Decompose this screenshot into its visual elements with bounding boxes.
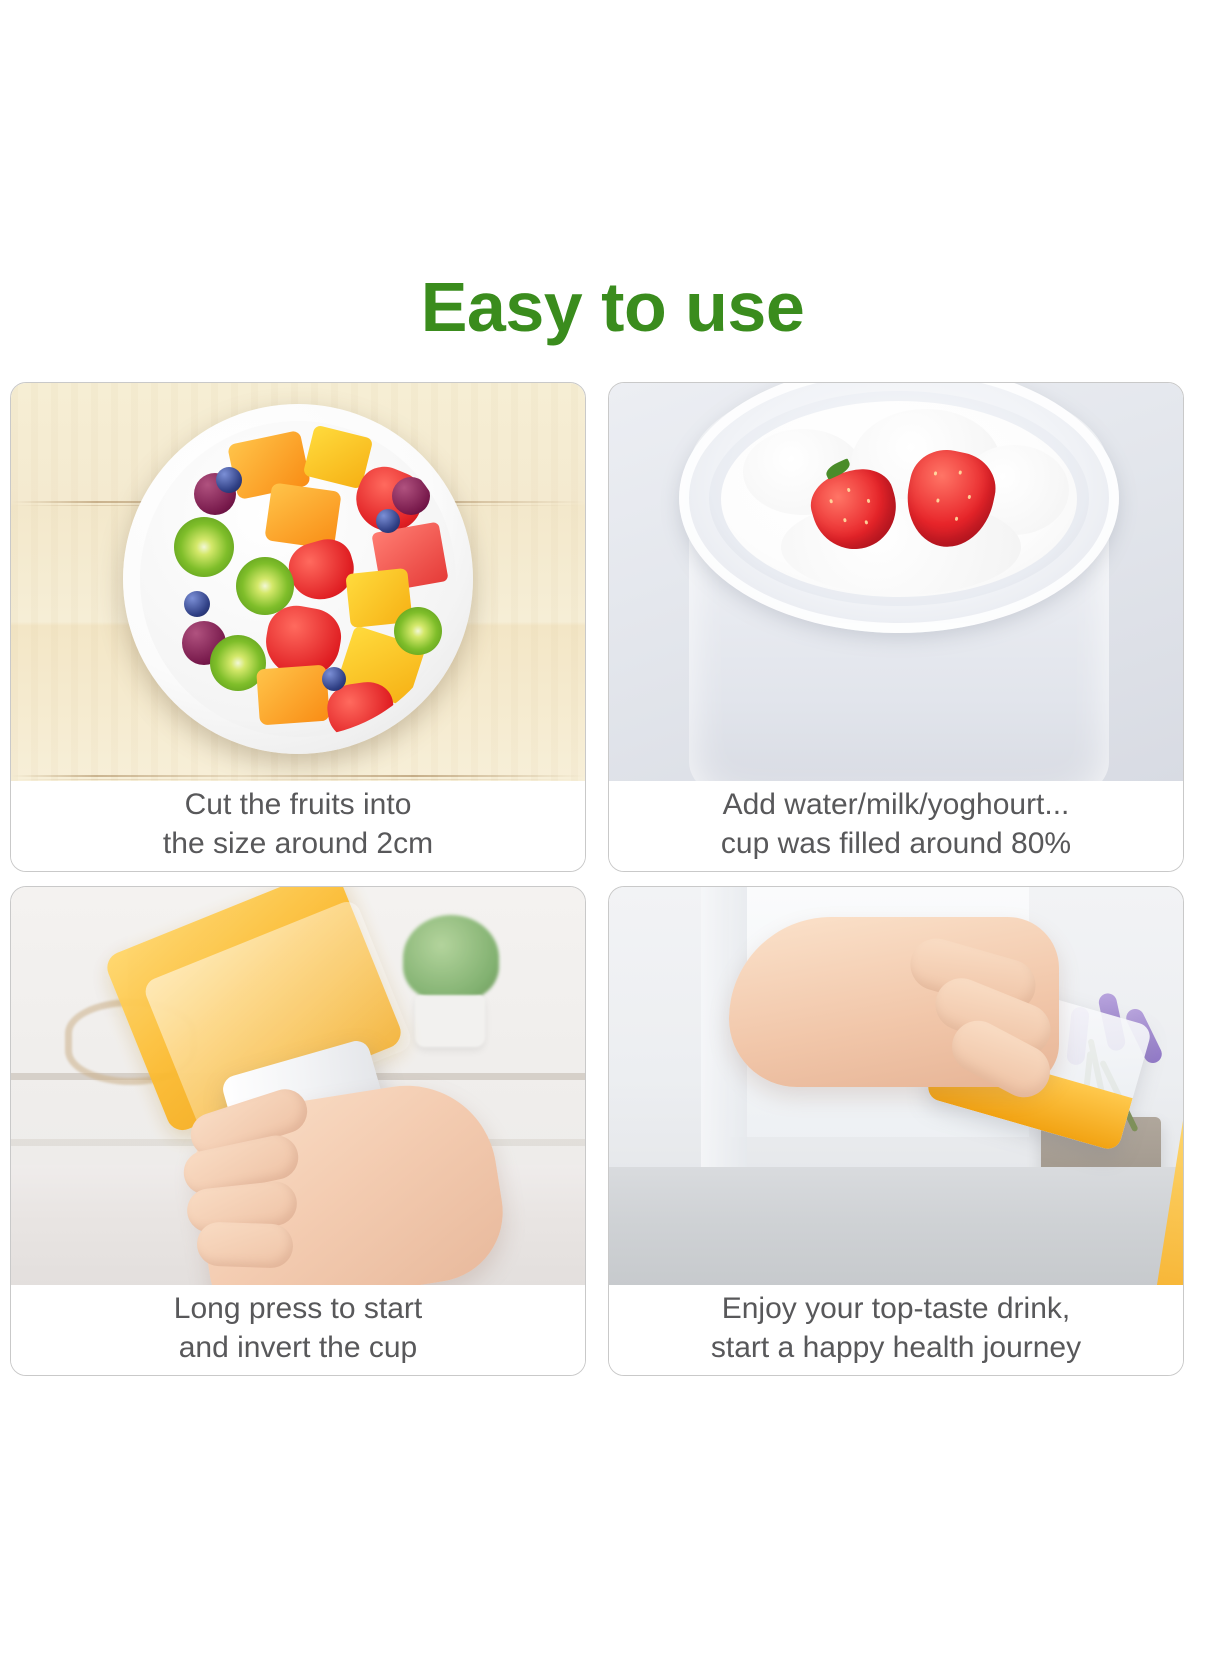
steps-grid: Cut the fruits into the size around 2cm [10, 382, 1215, 1376]
step-4-caption: Enjoy your top-taste drink, start a happ… [609, 1285, 1183, 1375]
step-2-caption-line-2: cup was filled around 80% [721, 824, 1071, 863]
page-title: Easy to use [0, 272, 1225, 342]
step-2-caption-line-1: Add water/milk/yoghourt... [723, 785, 1070, 824]
step-card-2: Add water/milk/yoghourt... cup was fille… [608, 382, 1184, 872]
step-2-photo [609, 383, 1183, 781]
step-4-photo: G [609, 887, 1183, 1285]
step-3-caption: Long press to start and invert the cup [11, 1285, 585, 1375]
step-1-caption-line-1: Cut the fruits into [185, 785, 412, 824]
plant-icon [403, 915, 499, 1001]
step-3-photo: MOSEOF [11, 887, 585, 1285]
step-1-caption-line-2: the size around 2cm [163, 824, 433, 863]
step-2-caption: Add water/milk/yoghourt... cup was fille… [609, 781, 1183, 871]
step-4-caption-line-2: start a happy health journey [711, 1328, 1081, 1367]
step-card-1: Cut the fruits into the size around 2cm [10, 382, 586, 872]
step-3-caption-line-1: Long press to start [174, 1289, 422, 1328]
infographic-page: Easy to use [0, 0, 1225, 1670]
table-surface [609, 1167, 1183, 1285]
step-3-caption-line-2: and invert the cup [179, 1328, 418, 1367]
step-1-caption: Cut the fruits into the size around 2cm [11, 781, 585, 871]
step-4-caption-line-1: Enjoy your top-taste drink, [722, 1289, 1071, 1328]
yoghurt-fill [721, 401, 1077, 597]
step-card-4: G Enjoy [608, 886, 1184, 1376]
step-card-3: MOSEOF Long press to start and invert th… [10, 886, 586, 1376]
fruit-bowl-icon [123, 404, 473, 754]
plant-pot-icon [415, 995, 485, 1047]
step-1-photo [11, 383, 585, 781]
